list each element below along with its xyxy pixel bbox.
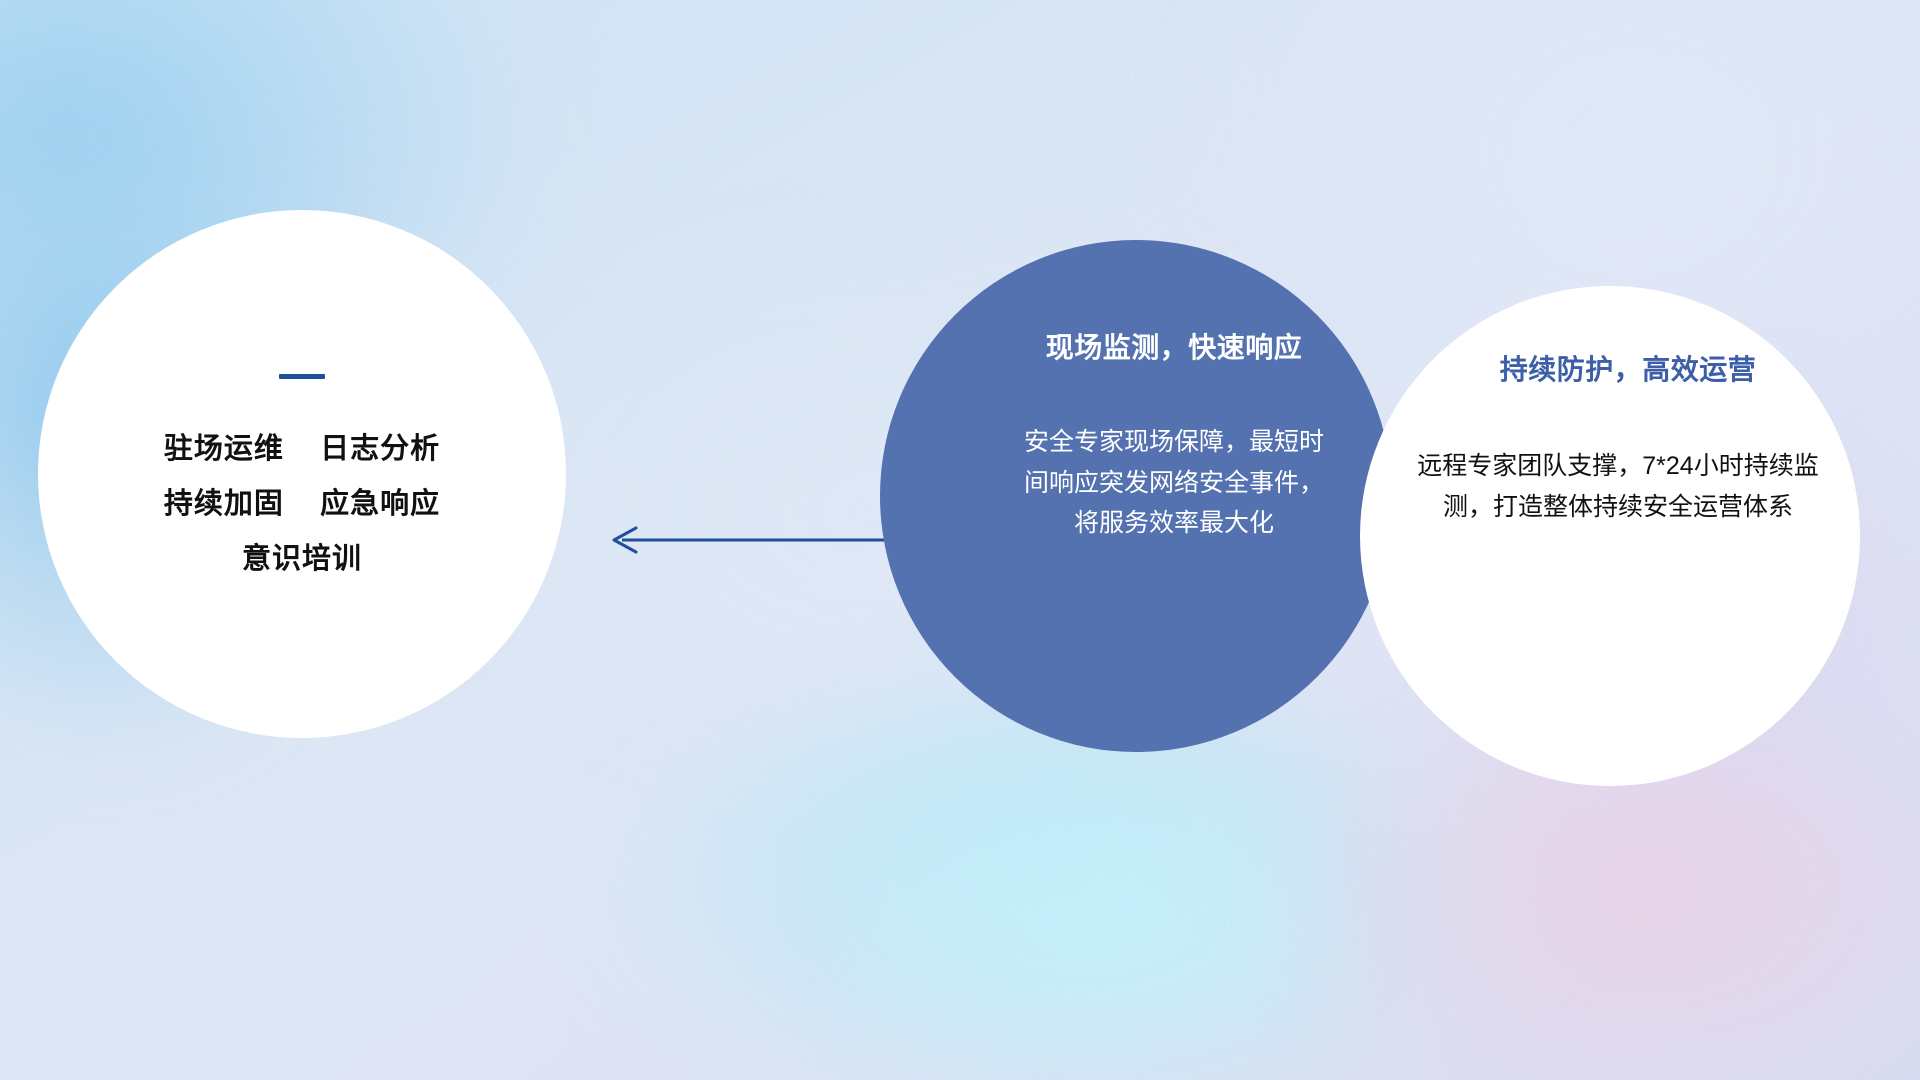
slide-canvas: 驻场运维 日志分析 持续加固 应急响应 意识培训 现场监测，快速响应 安全专家现… xyxy=(0,0,1920,1080)
left-keyword-line-3: 意识培训 xyxy=(164,545,440,574)
right-circle-body: 远程专家团队支撑，7*24小时持续监测，打造整体持续安全运营体系 xyxy=(1408,446,1828,527)
right-circle-content: 持续防护，高效运营 远程专家团队支撑，7*24小时持续监测，打造整体持续安全运营… xyxy=(1360,286,1860,786)
mid-circle-title: 现场监测，快速响应 xyxy=(1046,326,1303,366)
mid-circle-body: 安全专家现场保障，最短时间响应突发网络安全事件，将服务效率最大化 xyxy=(1024,422,1324,544)
left-keyword-list: 驻场运维 日志分析 持续加固 应急响应 意识培训 xyxy=(164,435,440,574)
left-service-circle[interactable]: 驻场运维 日志分析 持续加固 应急响应 意识培训 xyxy=(38,210,566,738)
left-circle-content: 驻场运维 日志分析 持续加固 应急响应 意识培训 xyxy=(38,210,566,738)
divider-dash-icon xyxy=(279,374,325,379)
left-keyword-line-1: 驻场运维 日志分析 xyxy=(164,435,440,464)
mid-circle-content: 现场监测，快速响应 安全专家现场保障，最短时间响应突发网络安全事件，将服务效率最… xyxy=(880,240,1392,752)
right-circle-title: 持续防护，高效运营 xyxy=(1500,348,1757,388)
flow-arrow-connector xyxy=(600,520,900,560)
mid-onsite-circle[interactable]: 现场监测，快速响应 安全专家现场保障，最短时间响应突发网络安全事件，将服务效率最… xyxy=(880,240,1392,752)
left-keyword-line-2: 持续加固 应急响应 xyxy=(164,490,440,519)
arrow-left-icon xyxy=(600,520,900,560)
right-operations-circle[interactable]: 持续防护，高效运营 远程专家团队支撑，7*24小时持续监测，打造整体持续安全运营… xyxy=(1360,286,1860,786)
